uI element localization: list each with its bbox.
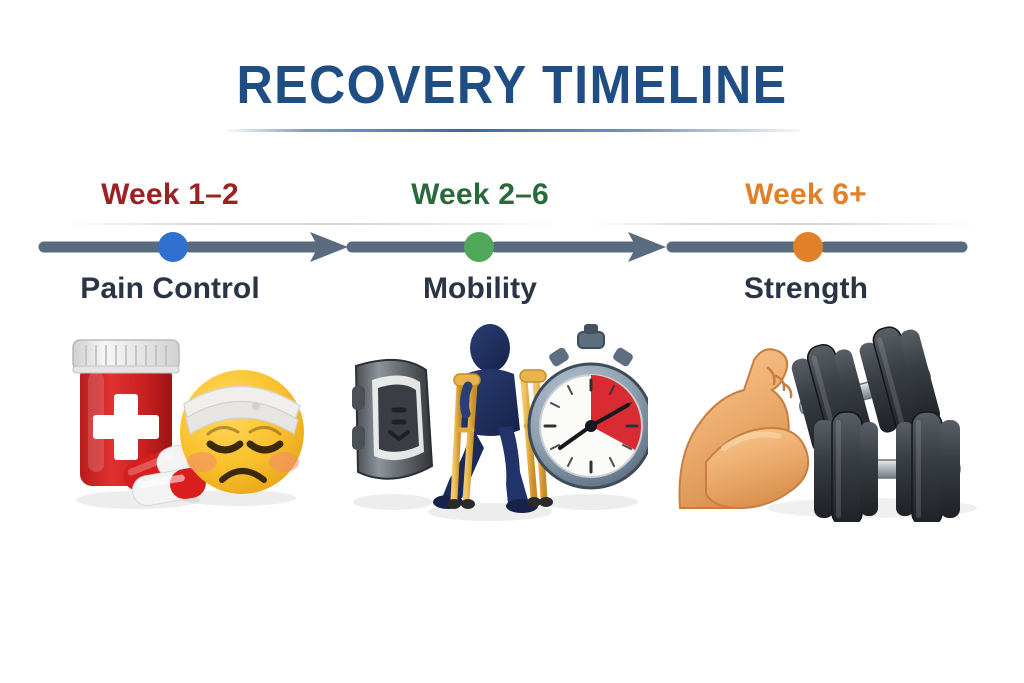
header: RECOVERY TIMELINE bbox=[0, 58, 1024, 132]
week-label-strength: Week 6+ bbox=[646, 180, 966, 210]
milestone-dot-pain-control[interactable] bbox=[158, 232, 188, 262]
week-label-pain-control: Week 1–2 bbox=[10, 180, 330, 210]
timeline: Week 1–2 Pain Control Week 2–6 Mobility … bbox=[0, 178, 1024, 308]
phase-label-strength: Strength bbox=[646, 274, 966, 304]
week-label-mobility: Week 2–6 bbox=[320, 180, 640, 210]
flexed-bicep-icon bbox=[679, 349, 808, 508]
milestone-dot-mobility[interactable] bbox=[464, 232, 494, 262]
bandaged-face-icon bbox=[180, 370, 304, 494]
page-title: RECOVERY TIMELINE bbox=[36, 58, 988, 112]
icon-shadow bbox=[542, 494, 638, 510]
icon-group-strength bbox=[672, 322, 982, 522]
phase-label-pain-control: Pain Control bbox=[10, 274, 330, 304]
milestone-dot-strength[interactable] bbox=[793, 232, 823, 262]
icon-shadow bbox=[353, 494, 433, 510]
icon-row bbox=[0, 322, 1024, 532]
icon-group-pain-control bbox=[60, 322, 320, 522]
icon-group-mobility bbox=[338, 322, 648, 522]
title-underline-rule bbox=[225, 129, 800, 132]
knee-brace-icon bbox=[352, 360, 432, 479]
stopwatch-icon bbox=[529, 324, 648, 488]
phase-label-mobility: Mobility bbox=[320, 274, 640, 304]
